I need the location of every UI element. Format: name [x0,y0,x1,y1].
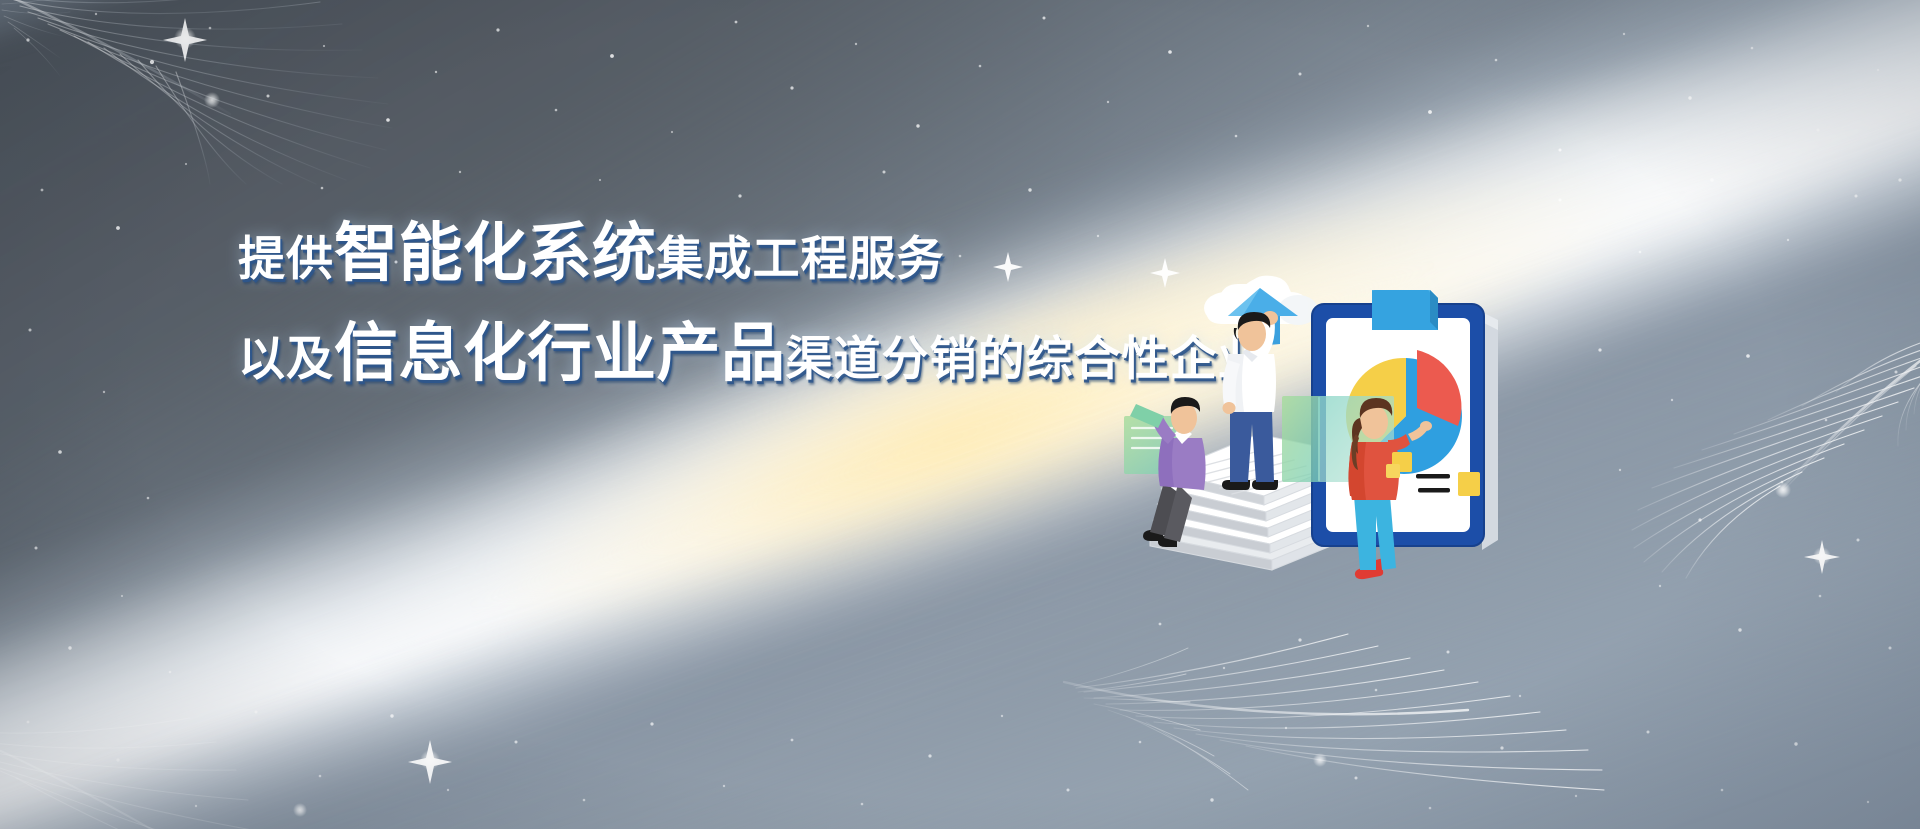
clipboard-clip [1372,290,1438,330]
background-vignette [0,0,1920,829]
headline-line2-lead: 以及 [238,336,334,383]
headline-line1-emphasis: 智能化系统 [334,222,657,286]
hero-banner: 提供智能化系统集成工程服务 以及信息化行业产品渠道分销的综合性企业 [0,0,1920,829]
headline-line2-emphasis: 信息化行业产品 [334,322,786,386]
business-analytics-illustration [1130,268,1530,588]
headline-line1-lead: 提供 [238,236,334,283]
headline-line1-tail: 集成工程服务 [657,236,945,283]
